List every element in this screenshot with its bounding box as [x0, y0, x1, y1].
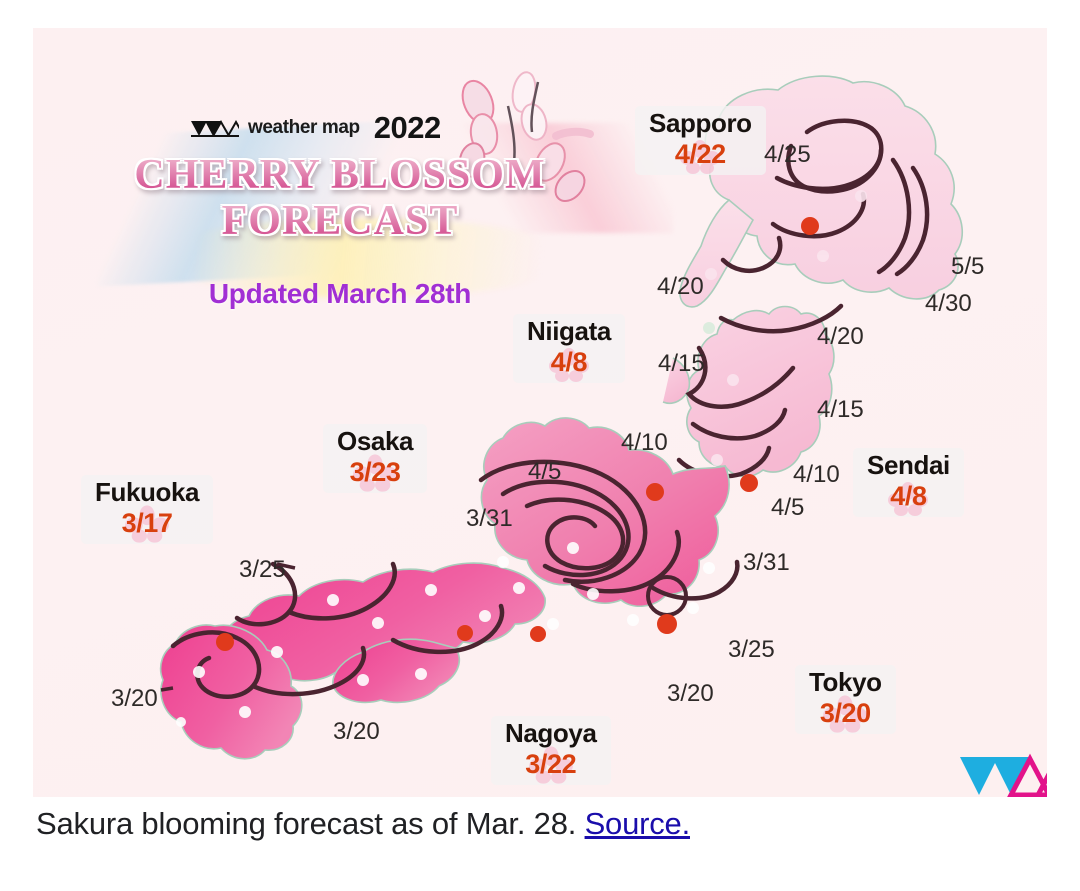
caption: Sakura blooming forecast as of Mar. 28. … — [36, 806, 690, 842]
contour-date-label: 3/25 — [239, 556, 286, 584]
contour-date-label: 3/20 — [111, 685, 158, 713]
brand-row: weather map 2022 — [191, 110, 441, 146]
contour-date-label: 3/25 — [728, 636, 775, 664]
contour-date-label: 4/20 — [817, 323, 864, 351]
contour-date-label: 4/10 — [621, 429, 668, 457]
contour-date-label: 3/31 — [466, 505, 513, 533]
city-marker-tokyo — [657, 614, 677, 634]
city-card-tokyo: Tokyo 3/20 — [795, 665, 896, 734]
contour-date-label: 4/15 — [658, 350, 705, 378]
source-link[interactable]: Source. — [585, 806, 690, 841]
city-card-sendai: Sendai 4/8 — [853, 448, 964, 517]
updated-date-label: Updated March 28th — [105, 278, 575, 310]
city-marker-sapporo — [801, 217, 819, 235]
page-title: CHERRY BLOSSOM FORECAST — [105, 154, 575, 242]
city-date: 3/23 — [337, 458, 413, 487]
city-name: Niigata — [527, 318, 611, 346]
contour-date-label: 4/30 — [925, 290, 972, 318]
city-name: Fukuoka — [95, 479, 199, 507]
weather-map-logo-icon — [191, 120, 239, 137]
weather-map-logo-icon: weather map — [958, 753, 1047, 797]
city-card-sapporo: Sapporo 4/22 — [635, 106, 766, 175]
city-name: Sendai — [867, 452, 950, 480]
city-name: Tokyo — [809, 669, 882, 697]
brand-word: weather map — [248, 117, 360, 139]
contour-date-label: 3/20 — [333, 718, 380, 746]
contour-date-label: 4/20 — [657, 273, 704, 301]
contour-date-label: 4/15 — [817, 396, 864, 424]
city-date: 3/22 — [505, 750, 597, 779]
leader-3-20-kyushu — [161, 688, 173, 690]
contour-date-label: 4/25 — [764, 141, 811, 169]
city-card-nagoya: Nagoya 3/22 — [491, 716, 611, 785]
city-marker-fukuoka — [216, 633, 234, 651]
city-name: Sapporo — [649, 110, 752, 138]
title-line-1: CHERRY BLOSSOM — [105, 154, 575, 196]
contour-date-label: 4/5 — [528, 458, 561, 486]
city-date: 3/17 — [95, 509, 199, 538]
city-name: Osaka — [337, 428, 413, 456]
city-date: 4/22 — [649, 140, 752, 169]
contour-date-label: 5/5 — [951, 253, 984, 281]
city-marker-nagoya — [530, 626, 546, 642]
title-line-2: FORECAST — [105, 200, 575, 242]
cherry-blossom-forecast-image: weather map 2022 CHERRY BLOSSOM FORECAST — [33, 28, 1047, 797]
contour-date-label: 4/10 — [793, 461, 840, 489]
city-card-osaka: Osaka 3/23 — [323, 424, 427, 493]
city-card-fukuoka: Fukuoka 3/17 — [81, 475, 213, 544]
city-card-niigata: Niigata 4/8 — [513, 314, 625, 383]
city-marker-niigata — [646, 483, 664, 501]
city-date: 3/20 — [809, 699, 882, 728]
page-root: weather map 2022 CHERRY BLOSSOM FORECAST — [0, 0, 1080, 891]
city-date: 4/8 — [527, 348, 611, 377]
caption-text: Sakura blooming forecast as of Mar. 28. — [36, 806, 585, 841]
contour-date-label: 3/31 — [743, 549, 790, 577]
contour-date-label: 3/20 — [667, 680, 714, 708]
city-marker-sendai — [740, 474, 758, 492]
city-name: Nagoya — [505, 720, 597, 748]
contour-date-label: 4/5 — [771, 494, 804, 522]
city-date: 4/8 — [867, 482, 950, 511]
brand-year: 2022 — [374, 110, 441, 146]
city-marker-osaka — [457, 625, 473, 641]
